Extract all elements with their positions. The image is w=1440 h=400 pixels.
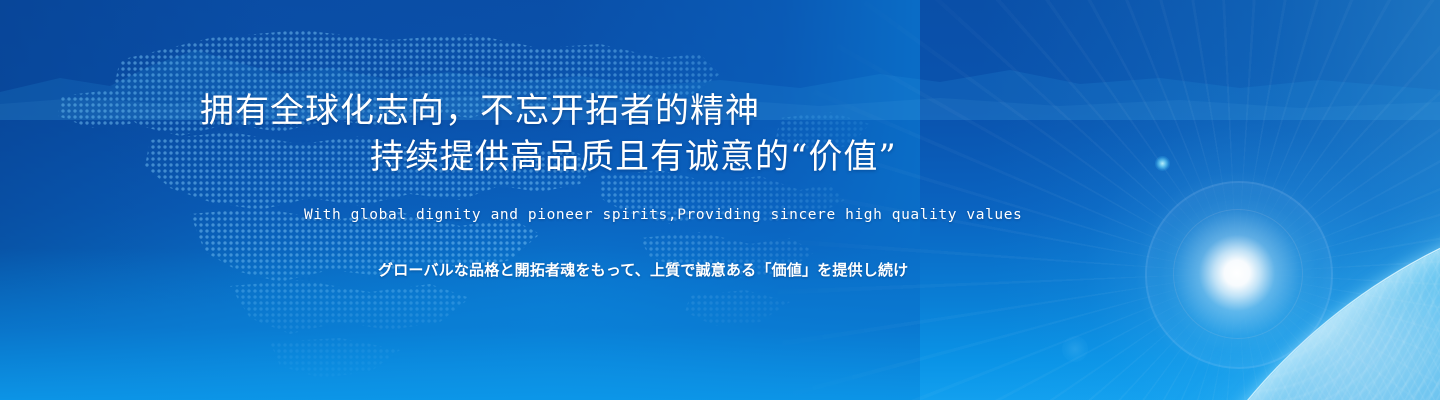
subtitle-japanese: グローバルな品格と開拓者魂をもって、上質で誠意ある「価値」を提供し続け [378, 259, 908, 280]
hero-banner: 拥有全球化志向，不忘开拓者的精神 持续提供高品质且有诚意的“价值” With g… [0, 0, 1440, 400]
banner-text-block: 拥有全球化志向，不忘开拓者的精神 持续提供高品质且有诚意的“价值” With g… [0, 0, 1440, 400]
headline-line-1: 拥有全球化志向，不忘开拓者的精神 [200, 88, 897, 134]
subtitle-english: With global dignity and pioneer spirits,… [304, 207, 1022, 223]
headline-line-2: 持续提供高品质且有诚意的“价值” [200, 134, 897, 180]
headline: 拥有全球化志向，不忘开拓者的精神 持续提供高品质且有诚意的“价值” [200, 88, 897, 180]
